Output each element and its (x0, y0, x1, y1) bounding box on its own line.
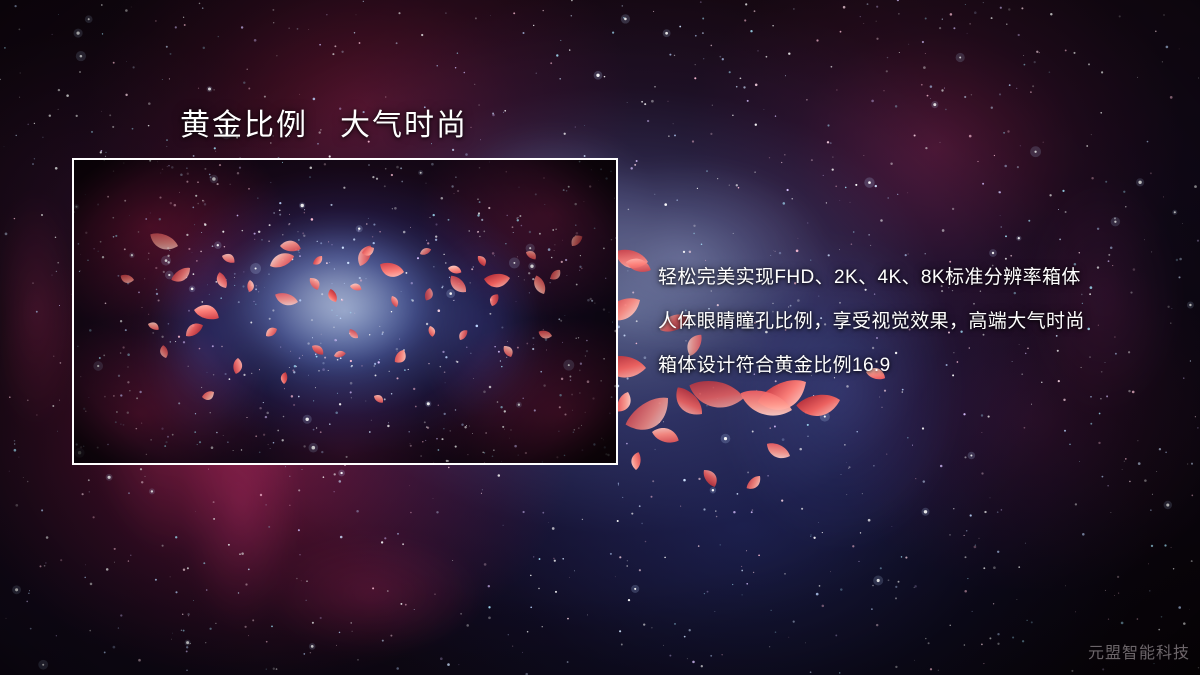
picture-vignette (74, 160, 616, 463)
slide-body-text: 轻松完美实现FHD、2K、4K、8K标准分辨率箱体 人体眼睛瞳孔比例，享受视觉效… (658, 256, 1178, 388)
picture-rose-petals (74, 160, 618, 465)
body-line-2: 人体眼睛瞳孔比例，享受视觉效果，高端大气时尚 (658, 300, 1178, 344)
framed-picture (72, 158, 618, 465)
picture-starfield (74, 160, 618, 465)
company-watermark: 元盟智能科技 (1088, 639, 1190, 663)
body-line-3: 箱体设计符合黄金比例16:9 (658, 344, 1178, 388)
body-line-1: 轻松完美实现FHD、2K、4K、8K标准分辨率箱体 (658, 256, 1178, 300)
picture-nebula-core-glow (74, 160, 616, 463)
picture-nebula-base (74, 160, 616, 463)
slide-title: 黄金比例 大气时尚 (180, 100, 468, 144)
presentation-slide: 黄金比例 大气时尚 轻松完美实现FHD、2K、4K、8K标准分辨率箱体 人体眼睛… (0, 0, 1200, 675)
